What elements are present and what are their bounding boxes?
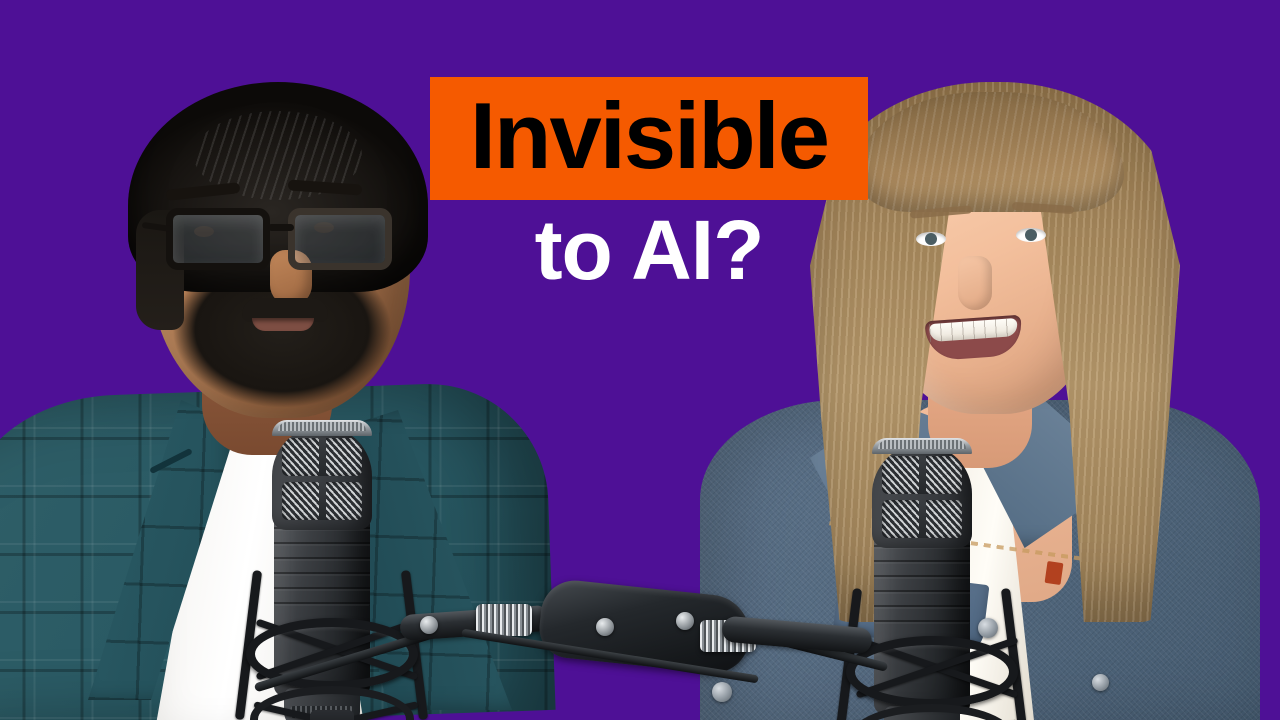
man-mouth (252, 318, 314, 331)
mic-left-mount-hub (310, 710, 354, 720)
man-eyeglasses (156, 202, 416, 282)
boom-pivot-pin-1 (596, 618, 614, 636)
mic-left-mesh-bottom (282, 482, 362, 520)
podcast-thumbnail: Invisible to AI? (0, 0, 1280, 720)
boom-arm-assembly (400, 588, 870, 680)
eyeglass-lens-right (288, 208, 392, 270)
mic-right-top-cap (872, 438, 972, 454)
woman-nose (958, 256, 992, 310)
title-highlight-box: Invisible (430, 77, 868, 200)
mic-left-mesh-top (282, 438, 362, 476)
mic-right-grille (872, 444, 972, 548)
denim-button-placket (712, 682, 732, 702)
boom-pivot-pin-2 (676, 612, 694, 630)
boom-pivot-pin-3 (420, 616, 438, 634)
mic-left-grille (272, 426, 372, 530)
woman-eye-right (1016, 228, 1046, 242)
title-line-2: to AI? (430, 208, 868, 292)
eyeglass-bridge (268, 224, 294, 231)
mic-right-mesh-top (882, 456, 962, 494)
woman-eye-left (916, 232, 946, 246)
woman-teeth (929, 318, 1018, 342)
denim-brand-tab (1045, 561, 1064, 585)
title-line-1: Invisible (470, 89, 828, 183)
mic-left-top-cap (272, 420, 372, 436)
mic-right-mesh-bottom (882, 500, 962, 538)
eyeglass-lens-left (166, 208, 270, 270)
denim-button-side (1092, 674, 1109, 691)
